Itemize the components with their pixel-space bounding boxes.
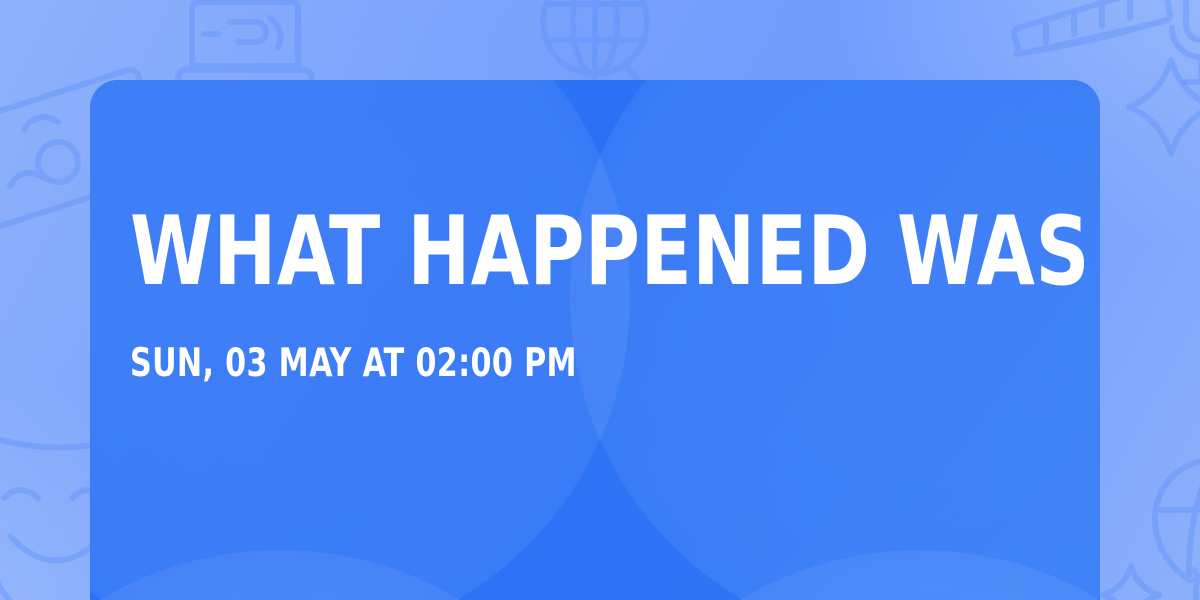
event-card-body: WHAT HAPPENED WAS SUN, 03 MAY AT 02:00 P… — [130, 80, 1060, 600]
event-datetime: SUN, 03 MAY AT 02:00 PM — [130, 344, 577, 383]
banner-canvas: WHAT HAPPENED WAS SUN, 03 MAY AT 02:00 P… — [0, 0, 1200, 600]
event-title: WHAT HAPPENED WAS — [130, 206, 1090, 299]
event-card: WHAT HAPPENED WAS SUN, 03 MAY AT 02:00 P… — [90, 80, 1100, 600]
